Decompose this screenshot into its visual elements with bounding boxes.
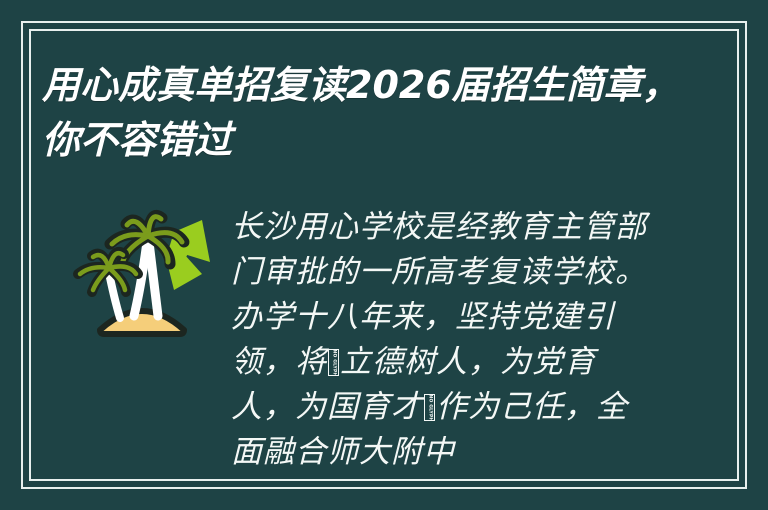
poster-body-copy: 长沙用心学校是经教育主管部门审批的一所高考复读学校。办学十八年来，坚持党建引领，… xyxy=(231,205,655,475)
poster-canvas: 用心成真单招复读2026届招生简章，你不容错过 xyxy=(0,0,768,510)
poster-headline: 用心成真单招复读2026届招生简章，你不容错过 xyxy=(42,58,682,168)
palm-tree-island-icon xyxy=(62,192,222,362)
missing-glyph-label: NO GLYPH xyxy=(331,349,336,376)
sand-mound-shape xyxy=(100,311,184,334)
missing-glyph-label: NO GLYPH xyxy=(427,394,432,421)
missing-glyph-box-open: NO GLYPH xyxy=(328,349,339,376)
missing-glyph-box-close: NO GLYPH xyxy=(424,394,435,421)
